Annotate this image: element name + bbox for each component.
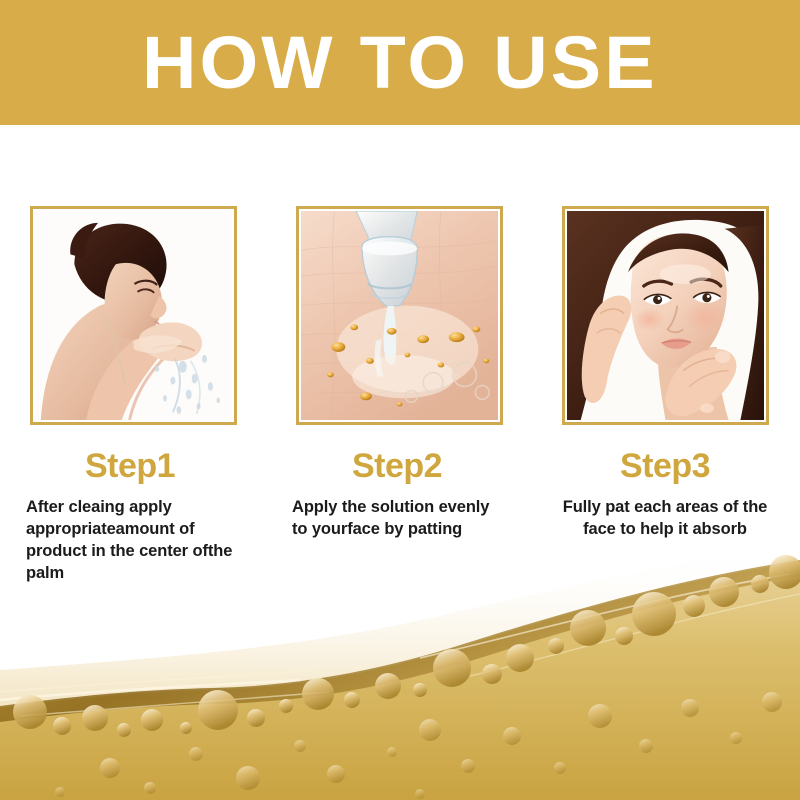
step-2-description: Apply the solution evenly to yourface by… [292,497,506,541]
woman-touching-face-photo [567,211,764,420]
serum-dropper-on-skin-photo [301,211,498,420]
step-3-label: Step3 [620,449,710,483]
step-2-label: Step2 [352,449,442,483]
step-card-2: Step2 Apply the solution evenly to yourf… [266,206,532,585]
step-card-1: Step1 After cleaing apply appropriateamo… [0,206,266,585]
step-card-3: Step3 Fully pat each areas of the face t… [532,206,798,585]
step-1-photo-frame [30,206,237,425]
step-2-photo-frame [296,206,503,425]
step-3-description: Fully pat each areas of the face to help… [558,497,772,541]
step-1-label: Step1 [85,449,175,483]
step-1-description: After cleaing apply appropriateamount of… [26,497,240,585]
woman-washing-face-photo [35,211,232,420]
steps-row: Step1 After cleaing apply appropriateamo… [0,206,800,585]
page-title: HOW TO USE [142,26,658,100]
header-band: HOW TO USE [0,0,800,125]
step-3-photo-frame [562,206,769,425]
